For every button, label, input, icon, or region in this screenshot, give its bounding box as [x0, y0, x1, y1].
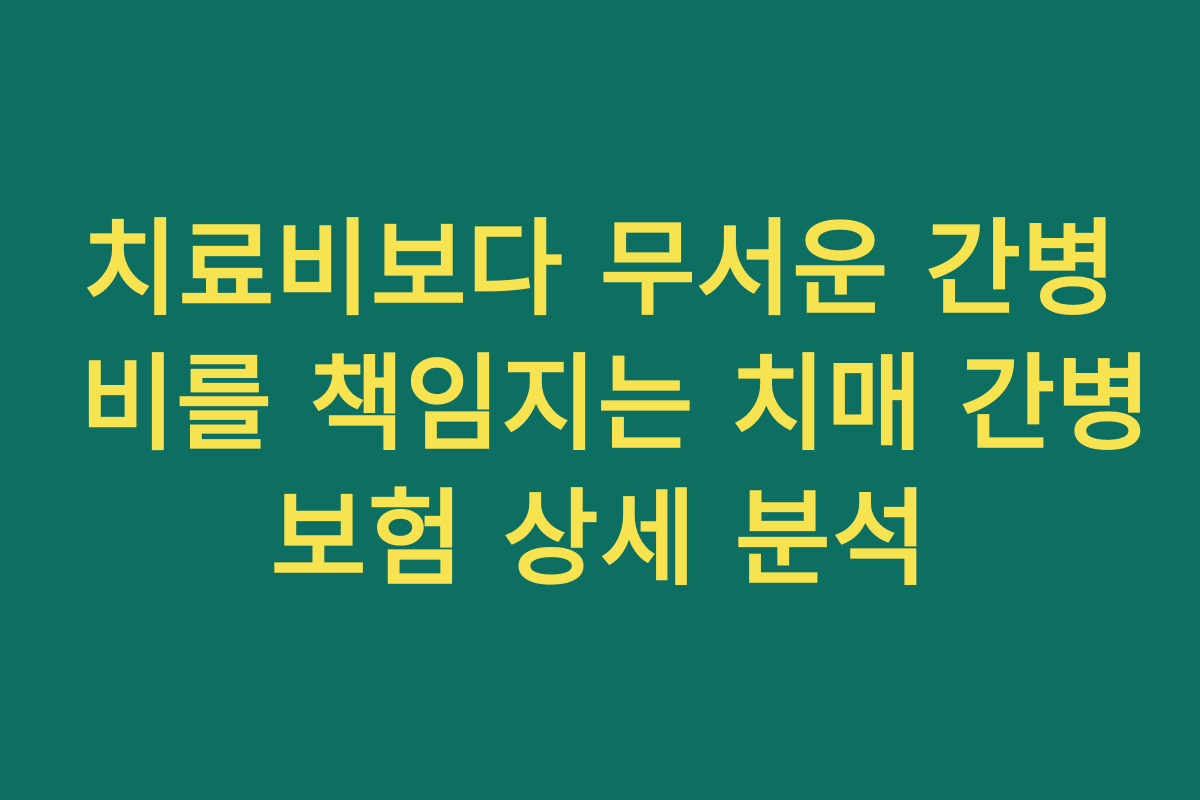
headline-block: 치료비보다 무서운 간병 비를 책임지는 치매 간병 보험 상세 분석 — [80, 194, 1120, 607]
headline-line-3: 보험 상세 분석 — [80, 472, 1120, 607]
headline-line-1: 치료비보다 무서운 간병 — [80, 202, 1120, 337]
headline-line-2: 비를 책임지는 치매 간병 — [80, 337, 1120, 472]
banner-card: 치료비보다 무서운 간병 비를 책임지는 치매 간병 보험 상세 분석 — [0, 0, 1200, 800]
